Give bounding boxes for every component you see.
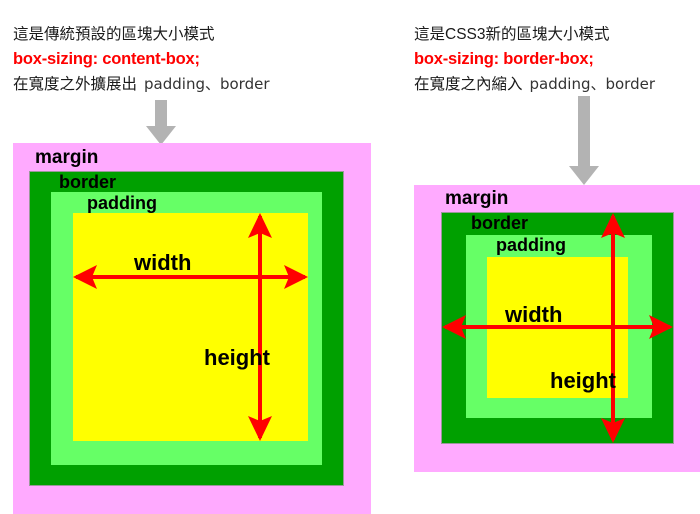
right-width-label: width [505,302,562,328]
right-caption-line-3: 在寬度之內縮入padding、border [414,72,655,97]
left-caption-block: 這是傳統預設的區塊大小模式 box-sizing: content-box; 在… [13,22,270,97]
right-height-label: height [550,368,616,394]
right-caption-line-1: 這是CSS3新的區塊大小模式 [414,22,655,47]
left-caption-line-3-tail: padding、border [137,75,269,93]
left-content-box [73,213,308,441]
left-caption-line-1: 這是傳統預設的區塊大小模式 [13,22,270,47]
right-padding-label: padding [496,235,566,256]
left-caption-line-3-prefix: 在寬度之外擴展出 [13,76,137,93]
right-margin-label: margin [445,188,508,210]
left-caption-code: box-sizing: content-box; [13,47,270,72]
left-width-label: width [134,250,191,276]
right-caption-line-3-prefix: 在寬度之內縮入 [414,76,523,93]
left-height-label: height [204,345,270,371]
left-caption-line-3: 在寬度之外擴展出padding、border [13,72,270,97]
right-caption-code: box-sizing: border-box; [414,47,655,72]
down-arrow-icon [566,96,602,186]
diagram-canvas: 這是傳統預設的區塊大小模式 box-sizing: content-box; 在… [0,0,700,514]
right-caption-line-3-tail: padding、border [523,75,655,93]
left-margin-label: margin [35,147,98,169]
left-border-label: border [59,172,116,193]
down-arrow-icon [143,100,179,146]
right-caption-block: 這是CSS3新的區塊大小模式 box-sizing: border-box; 在… [414,22,655,97]
left-padding-label: padding [87,193,157,214]
right-border-label: border [471,213,528,234]
